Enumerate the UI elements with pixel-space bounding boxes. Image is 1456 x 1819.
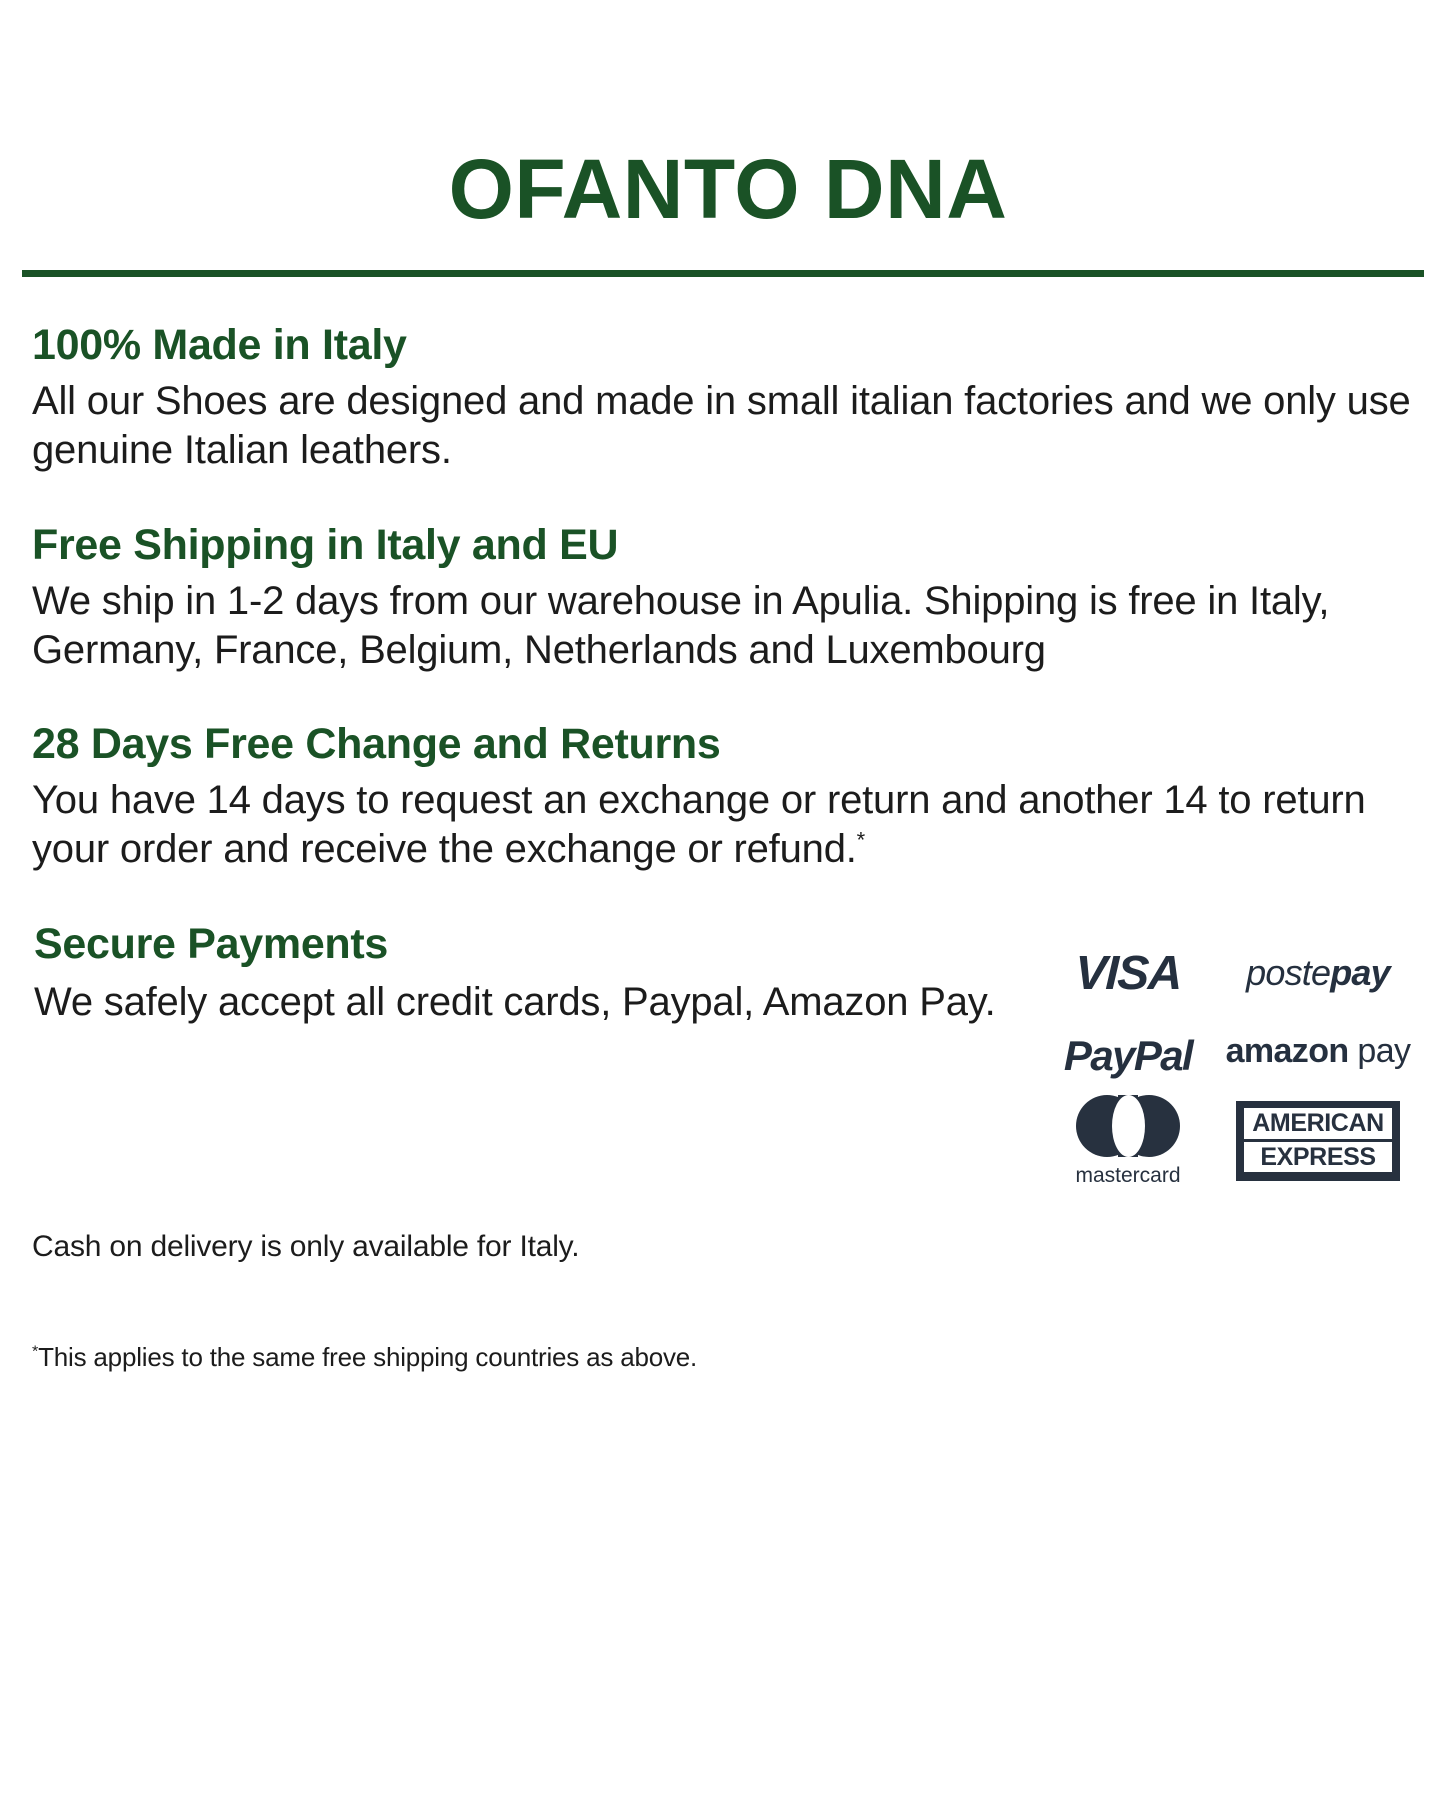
title-block: OFANTO DNA (0, 0, 1456, 230)
amazon-label-bold: amazon (1226, 1032, 1349, 1070)
mastercard-lens (1112, 1095, 1145, 1157)
mastercard-logo-label: mastercard (1075, 1164, 1180, 1188)
amazon-pay-logo: amazon pay (1226, 1032, 1411, 1081)
mastercard-circles-icon (1076, 1095, 1180, 1157)
section-heading-made-in-italy: 100% Made in Italy (32, 321, 1426, 369)
paypal-logo: PayPal (1064, 1032, 1192, 1080)
paypal-logo-label: PayPal (1064, 1032, 1192, 1080)
section-made-in-italy: 100% Made in Italy All our Shoes are des… (30, 321, 1426, 475)
secure-payments-text: Secure Payments We safely accept all cre… (30, 920, 996, 1027)
section-returns: 28 Days Free Change and Returns You have… (30, 720, 1426, 874)
section-heading-secure-payments: Secure Payments (34, 920, 996, 968)
page-title: OFANTO DNA (0, 150, 1456, 230)
section-heading-free-shipping: Free Shipping in Italy and EU (32, 521, 1426, 569)
payment-logo-grid: VISA postepay PayPal amazon pay (1048, 930, 1408, 1186)
title-divider (22, 270, 1424, 277)
section-free-shipping: Free Shipping in Italy and EU We ship in… (30, 521, 1426, 675)
section-body-free-shipping: We ship in 1-2 days from our warehouse i… (32, 577, 1422, 675)
amex-line-2: EXPRESS (1244, 1142, 1392, 1172)
amazon-pay-logo-label: amazon pay (1226, 1032, 1411, 1081)
visa-logo: VISA (1075, 946, 1181, 1001)
section-body-returns: You have 14 days to request an exchange … (32, 776, 1422, 874)
mastercard-mark: mastercard (1075, 1095, 1180, 1188)
returns-footnote-marker: * (857, 828, 865, 853)
amex-line-1: AMERICAN (1244, 1108, 1392, 1138)
mastercard-logo: mastercard (1075, 1095, 1180, 1188)
footnote-text: This applies to the same free shipping c… (38, 1342, 697, 1372)
amazon-label-light: pay (1357, 1032, 1410, 1070)
postepay-logo: postepay (1246, 952, 1390, 994)
section-secure-payments: Secure Payments We safely accept all cre… (30, 920, 1426, 1186)
postepay-label-bold: pay (1330, 952, 1390, 993)
amazon-swoosh-icon (1228, 1066, 1340, 1080)
content-area: 100% Made in Italy All our Shoes are des… (0, 321, 1456, 1373)
american-express-logo: AMERICAN EXPRESS (1236, 1101, 1400, 1181)
ofanto-dna-info-page: OFANTO DNA 100% Made in Italy All our Sh… (0, 0, 1456, 1819)
section-heading-returns: 28 Days Free Change and Returns (32, 720, 1426, 768)
amex-mark: AMERICAN EXPRESS (1236, 1101, 1400, 1181)
footnote: *This applies to the same free shipping … (32, 1342, 1426, 1373)
postepay-label-light: poste (1246, 952, 1330, 993)
section-body-made-in-italy: All our Shoes are designed and made in s… (32, 377, 1422, 475)
cash-on-delivery-note: Cash on delivery is only available for I… (32, 1230, 1426, 1264)
visa-logo-label: VISA (1074, 946, 1182, 1001)
returns-body-text: You have 14 days to request an exchange … (32, 778, 1366, 871)
section-body-secure-payments: We safely accept all credit cards, Paypa… (34, 978, 996, 1027)
postepay-logo-label: postepay (1246, 952, 1390, 994)
